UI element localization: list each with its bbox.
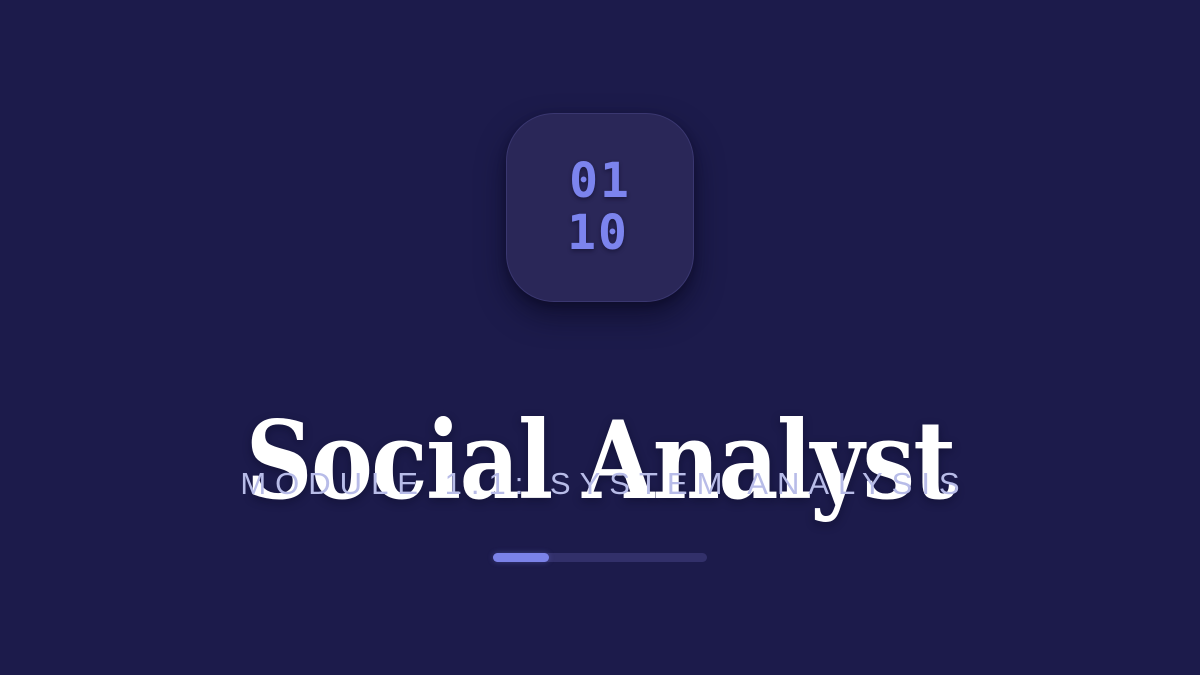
binary-digits-bottom: 10 — [567, 208, 631, 260]
binary-digits-top: 01 — [569, 156, 631, 208]
page-subtitle: MODULE 1.1: SYSTEM ANALYSIS — [0, 468, 1200, 499]
title-slide: 01 10 Social Analyst MODULE 1.1: SYSTEM … — [0, 0, 1200, 675]
binary-code-icon: 01 10 — [569, 156, 631, 260]
progress-fill — [493, 553, 549, 562]
page-title: Social Analyst — [84, 405, 1116, 518]
progress-bar — [493, 553, 707, 562]
binary-code-badge: 01 10 — [506, 113, 694, 302]
